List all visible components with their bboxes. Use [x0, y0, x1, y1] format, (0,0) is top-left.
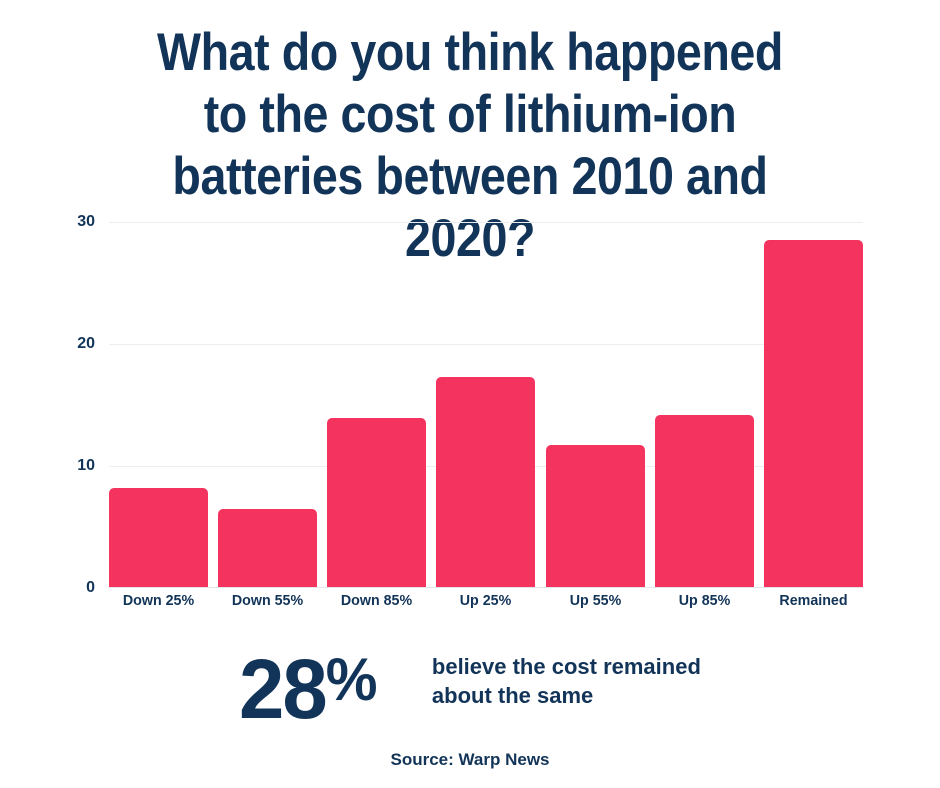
- bar[interactable]: [546, 445, 645, 588]
- bar-slot: [436, 222, 535, 588]
- bar-series: [109, 222, 863, 588]
- bar[interactable]: [327, 418, 426, 588]
- x-axis-label: Up 85%: [657, 592, 751, 609]
- source-credit: Source: Warp News: [0, 750, 940, 770]
- stat-caption: believe the cost remained about the same: [432, 652, 701, 710]
- bar[interactable]: [218, 509, 317, 588]
- x-axis-labels: Down 25%Down 55%Down 85%Up 25%Up 55%Up 8…: [109, 592, 863, 609]
- bar-slot: [327, 222, 426, 588]
- x-axis-label: Up 25%: [439, 592, 533, 609]
- highlight-stat: 28% believe the cost remained about the …: [0, 638, 940, 731]
- bar-slot: [764, 222, 863, 588]
- bar[interactable]: [109, 488, 208, 588]
- bar-chart: 0102030 Down 25%Down 55%Down 85%Up 25%Up…: [0, 0, 940, 640]
- y-axis-tick-label: 0: [86, 579, 95, 597]
- bar[interactable]: [655, 415, 754, 588]
- stat-number-value: 28: [239, 642, 326, 736]
- x-axis-label: Remained: [766, 592, 860, 609]
- bar-slot: [546, 222, 645, 588]
- stat-number: 28%: [239, 638, 376, 731]
- plot-area: 0102030: [109, 222, 863, 588]
- bar[interactable]: [764, 240, 863, 588]
- bar-slot: [109, 222, 208, 588]
- bar-slot: [218, 222, 317, 588]
- infographic-poster: What do you think happened to the cost o…: [0, 0, 940, 788]
- y-axis-tick-label: 30: [77, 213, 95, 231]
- bar[interactable]: [436, 377, 535, 588]
- y-axis-tick-label: 20: [77, 335, 95, 353]
- x-axis-label: Down 55%: [221, 592, 315, 609]
- y-axis-tick-label: 10: [77, 457, 95, 475]
- x-axis-label: Down 85%: [330, 592, 424, 609]
- percent-sign: %: [326, 646, 376, 713]
- x-axis-label: Up 55%: [548, 592, 642, 609]
- x-axis-label: Down 25%: [111, 592, 205, 609]
- bar-slot: [655, 222, 754, 588]
- x-axis-line: [109, 587, 863, 588]
